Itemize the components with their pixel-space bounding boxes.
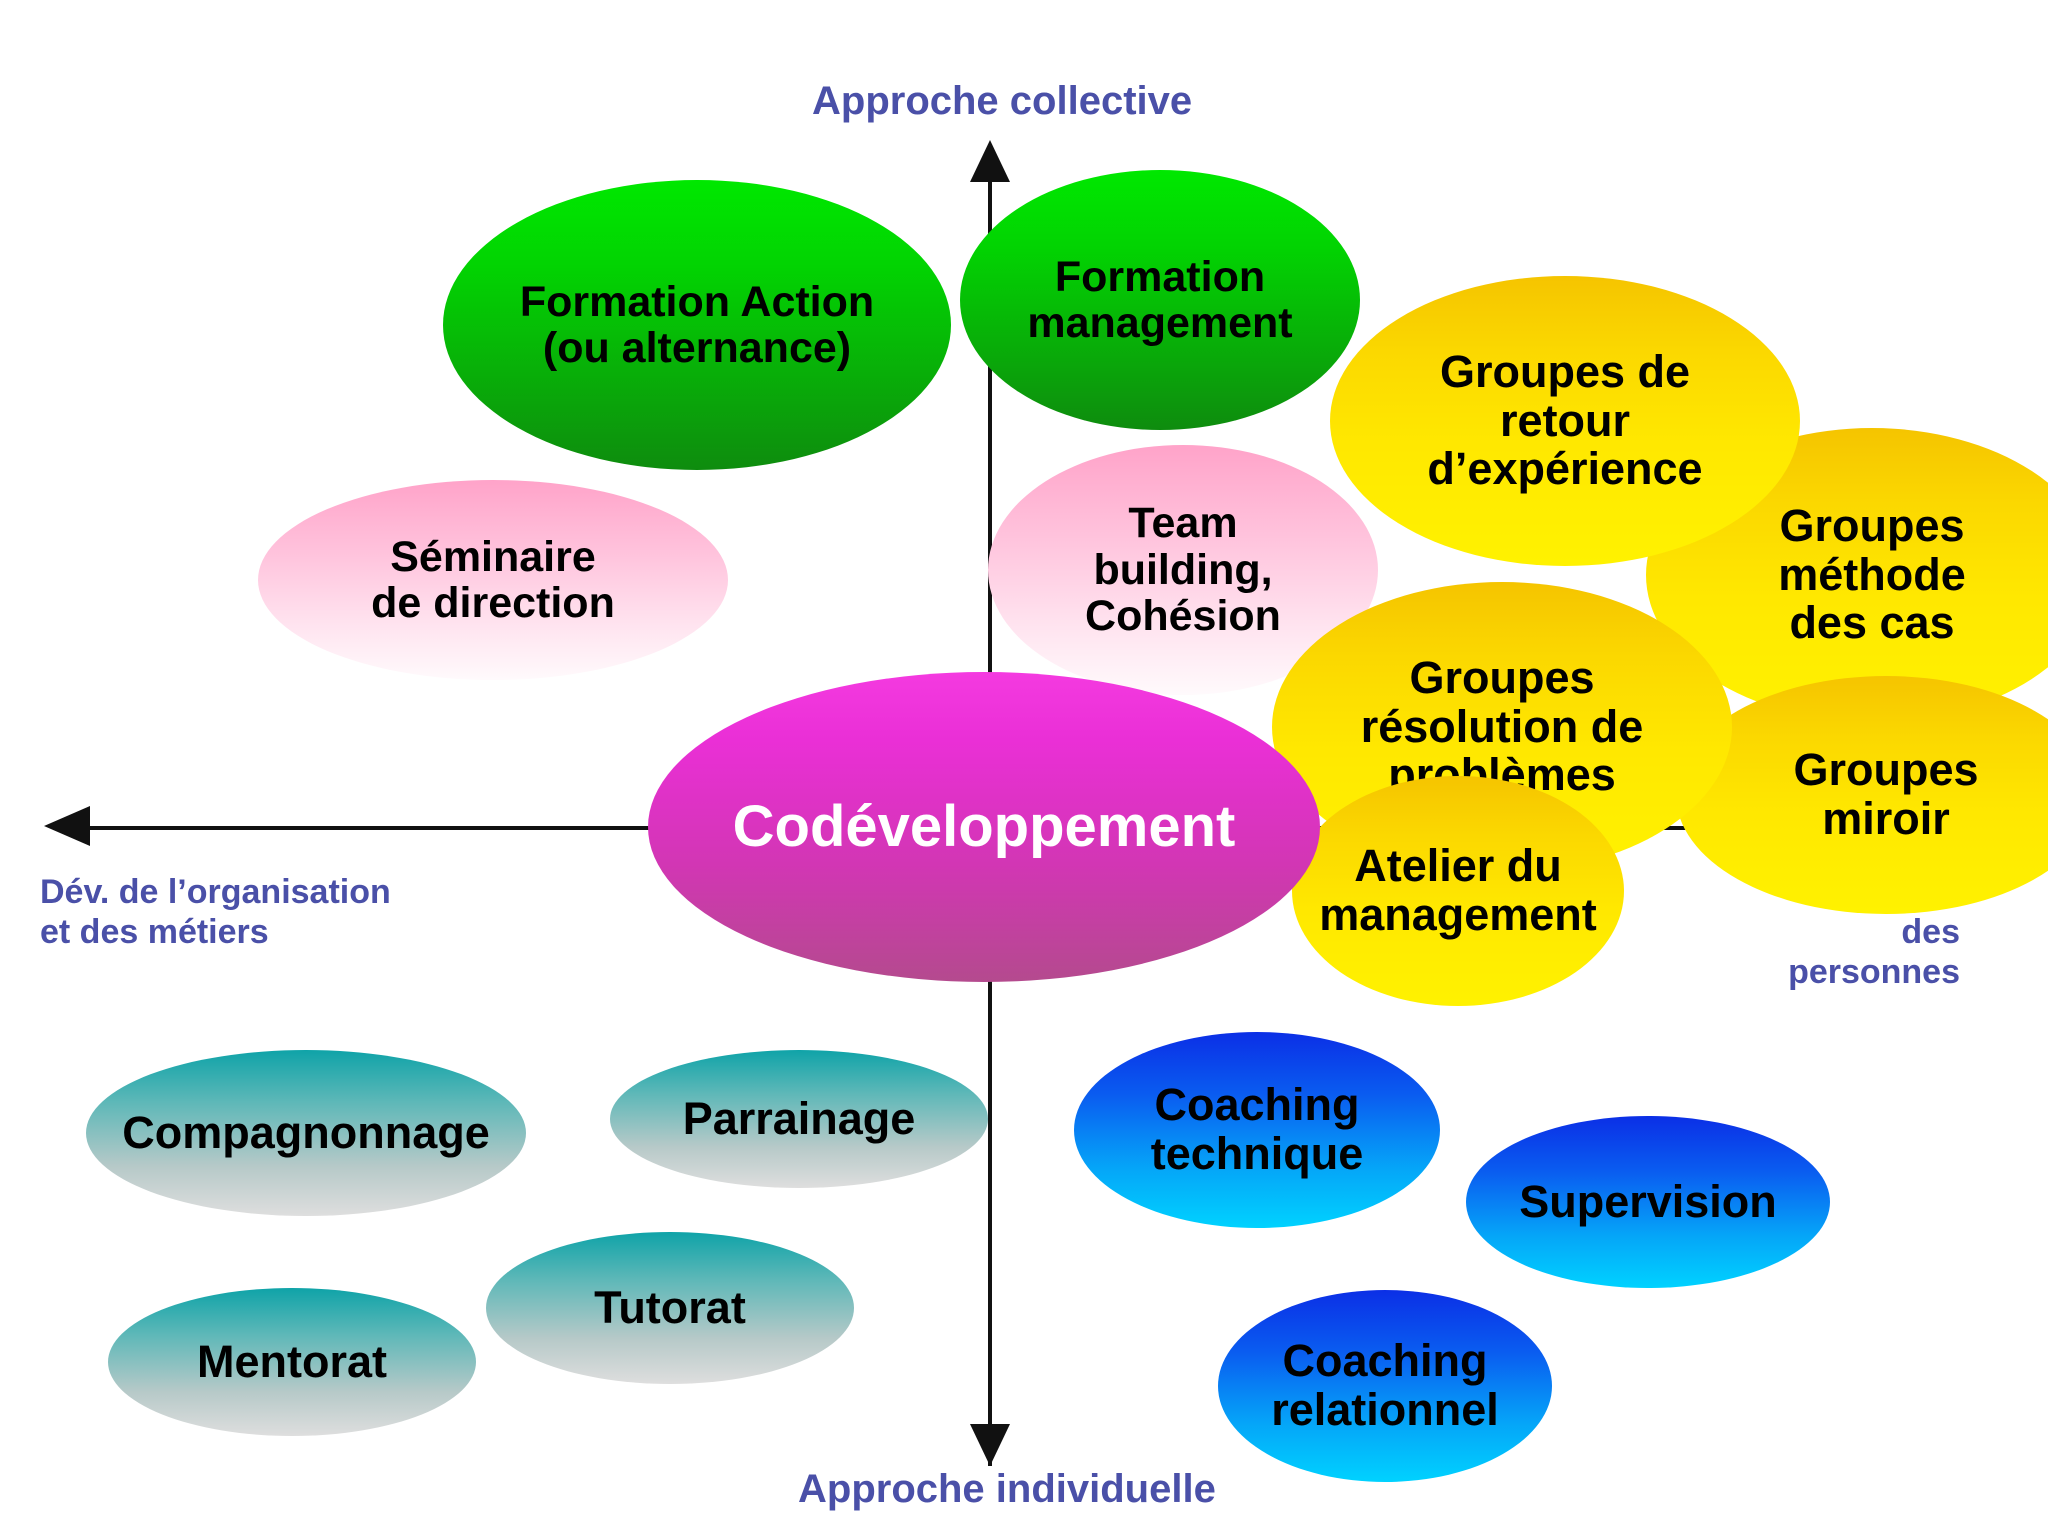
node-groupes-retour[interactable]: Groupes de retour d’expérience: [1330, 276, 1800, 566]
node-seminaire-direction[interactable]: Séminaire de direction: [258, 480, 728, 680]
node-label: Groupes résolution de problèmes: [1280, 654, 1724, 800]
node-label: Groupes de retour d’expérience: [1338, 348, 1792, 494]
arrow-left-icon: [44, 806, 90, 846]
arrow-up-icon: [970, 140, 1010, 182]
node-compagnonnage[interactable]: Compagnonnage: [86, 1050, 526, 1216]
node-label: Tutorat: [494, 1284, 846, 1333]
node-tutorat[interactable]: Tutorat: [486, 1232, 854, 1384]
node-coaching-relationnel[interactable]: Coaching relationnel: [1218, 1290, 1552, 1482]
node-coaching-technique[interactable]: Coaching technique: [1074, 1032, 1440, 1228]
node-label: Atelier du management: [1300, 842, 1616, 939]
node-label: Séminaire de direction: [266, 534, 720, 627]
node-atelier-management[interactable]: Atelier du management: [1292, 776, 1624, 1006]
node-parrainage[interactable]: Parrainage: [610, 1050, 988, 1188]
node-codeveloppement[interactable]: Codéveloppement: [648, 672, 1320, 982]
node-label: Groupes miroir: [1684, 746, 2048, 843]
node-label: Parrainage: [618, 1095, 980, 1144]
node-label: Supervision: [1474, 1178, 1822, 1227]
node-label: Coaching relationnel: [1226, 1337, 1544, 1434]
node-supervision[interactable]: Supervision: [1466, 1116, 1830, 1288]
axis-label-left: Dév. de l’organisation et des métiers: [40, 872, 391, 952]
node-label: Formation management: [968, 254, 1352, 347]
node-label: Compagnonnage: [94, 1109, 518, 1158]
node-groupes-miroir[interactable]: Groupes miroir: [1676, 676, 2048, 914]
node-mentorat[interactable]: Mentorat: [108, 1288, 476, 1436]
diagram-canvas: Formation Action (ou alternance) Formati…: [0, 0, 2048, 1536]
arrow-down-icon: [970, 1424, 1010, 1466]
axis-label-bottom: Approche individuelle: [798, 1466, 1216, 1513]
node-formation-management[interactable]: Formation management: [960, 170, 1360, 430]
node-label: Team building, Cohésion: [996, 500, 1370, 639]
node-label: Codéveloppement: [656, 796, 1312, 859]
node-formation-action[interactable]: Formation Action (ou alternance): [443, 180, 951, 470]
axis-label-top: Approche collective: [812, 78, 1192, 125]
node-label: Coaching technique: [1082, 1081, 1432, 1178]
node-label: Formation Action (ou alternance): [451, 279, 943, 372]
node-label: Mentorat: [116, 1338, 468, 1387]
